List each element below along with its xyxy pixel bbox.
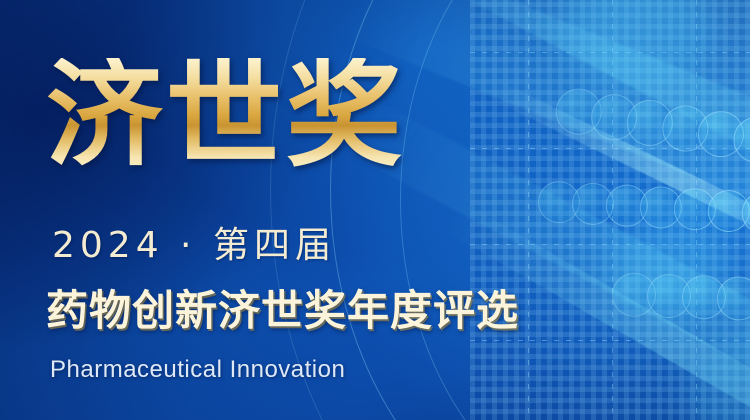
grid-line-horizontal — [470, 52, 750, 53]
banner-text-block: 济世奖 2024 · 第四届 药物创新济世奖年度评选 Pharmaceutica… — [0, 0, 470, 420]
molecule-bead — [681, 274, 727, 320]
molecule-bead — [571, 182, 615, 226]
molecule-bead — [537, 180, 581, 224]
molecule-bead — [552, 85, 605, 138]
technical-grid-overlay — [470, 0, 750, 420]
grid-line-vertical — [696, 0, 697, 420]
molecule-chain-row-top — [552, 85, 750, 171]
molecule-bead — [730, 113, 750, 166]
grid-line-vertical — [528, 0, 529, 420]
molecule-bead — [659, 102, 712, 155]
award-banner: 济世奖 2024 · 第四届 药物创新济世奖年度评选 Pharmaceutica… — [0, 0, 750, 420]
grid-line-horizontal — [470, 340, 750, 341]
molecule-bead — [639, 185, 683, 229]
glow-blob — [690, 330, 750, 420]
light-ribbon — [487, 79, 750, 281]
grid-line-horizontal — [470, 148, 750, 149]
molecule-bead — [673, 187, 717, 231]
molecule-bead — [588, 91, 641, 144]
award-english-subtitle: Pharmaceutical Innovation — [50, 358, 345, 382]
award-subtitle: 药物创新济世奖年度评选 — [46, 290, 666, 332]
edition-line: 2024 · 第四届 — [52, 228, 336, 264]
grid-line-vertical — [612, 0, 613, 420]
molecule-bead — [605, 184, 649, 228]
molecule-bead — [741, 191, 750, 235]
grid-line-horizontal — [470, 244, 750, 245]
molecule-bead — [624, 97, 677, 150]
molecule-bead — [707, 189, 750, 233]
award-headline: 济世奖 — [46, 58, 406, 174]
molecule-chain-row-middle — [537, 180, 750, 237]
glow-blob — [560, 0, 710, 90]
molecule-bead — [695, 108, 748, 161]
molecule-bead — [716, 276, 750, 322]
